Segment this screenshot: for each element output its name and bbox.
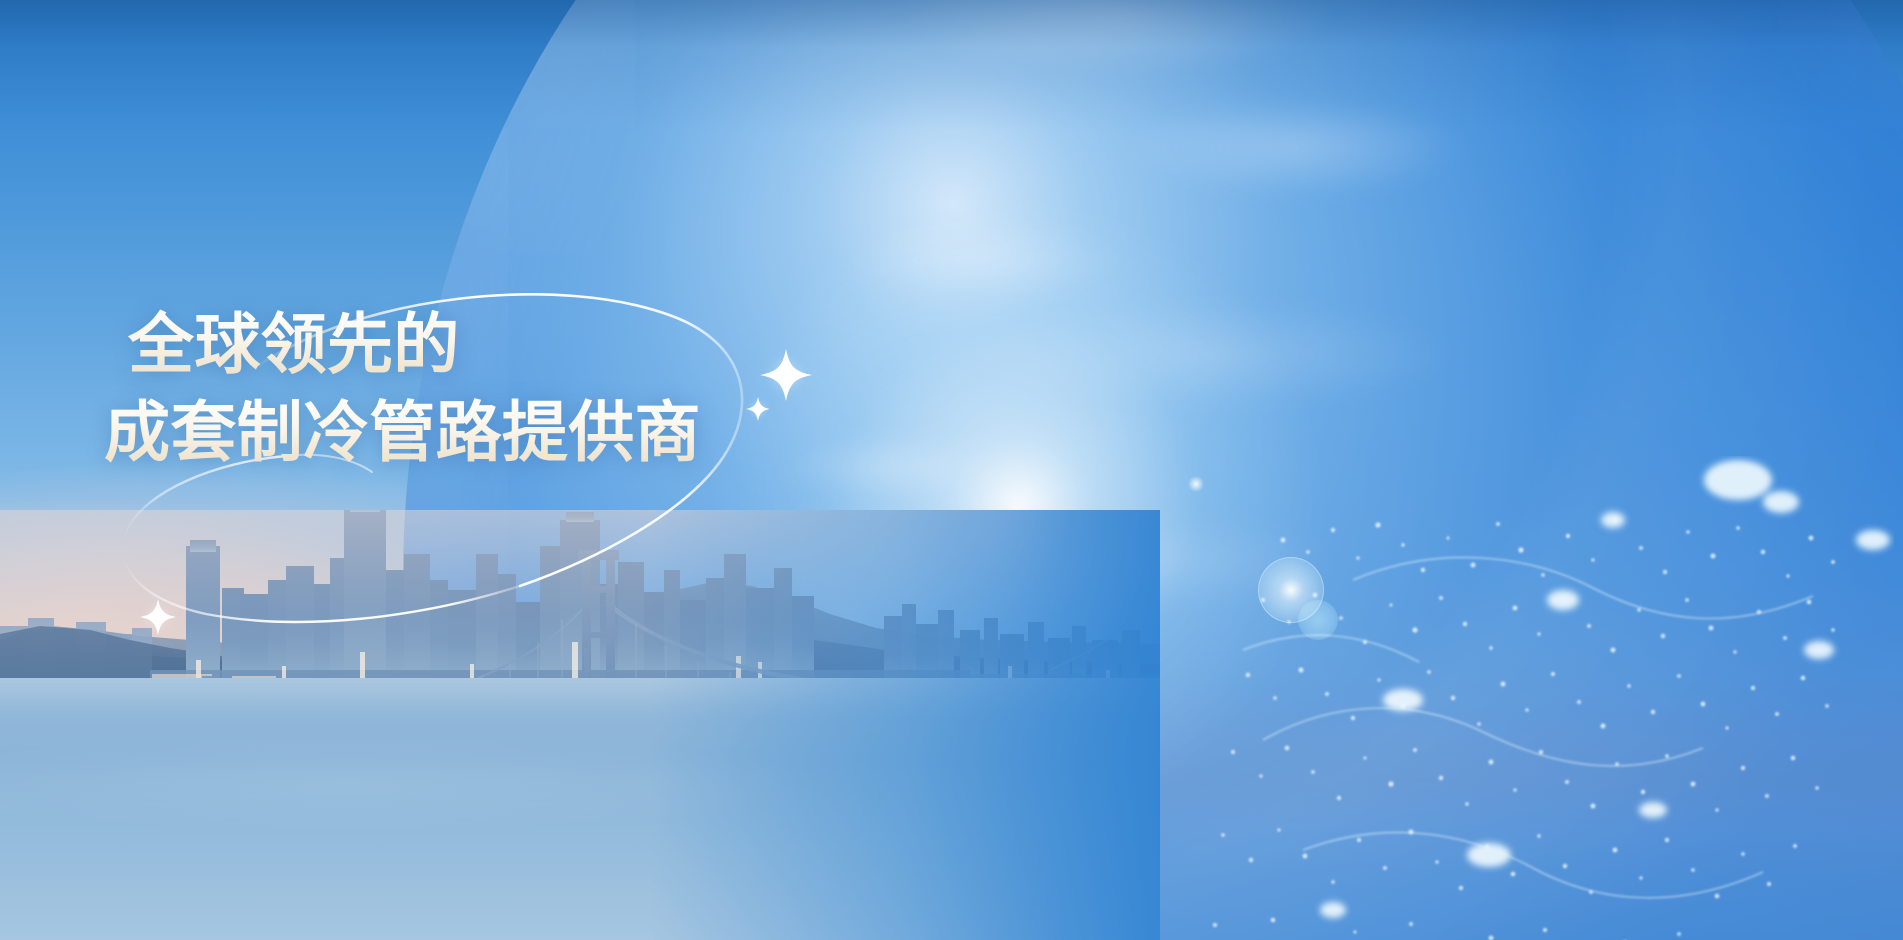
lens-flare-dot bbox=[1188, 476, 1204, 492]
headline: 全球领先的 成套制冷管路提供商 bbox=[104, 306, 864, 472]
lens-flare-small bbox=[1298, 600, 1338, 640]
headline-line-1: 全球领先的 bbox=[128, 306, 864, 384]
headline-line-2: 成套制冷管路提供商 bbox=[104, 394, 864, 472]
hero-banner: 全球领先的 成套制冷管路提供商 bbox=[0, 0, 1903, 940]
